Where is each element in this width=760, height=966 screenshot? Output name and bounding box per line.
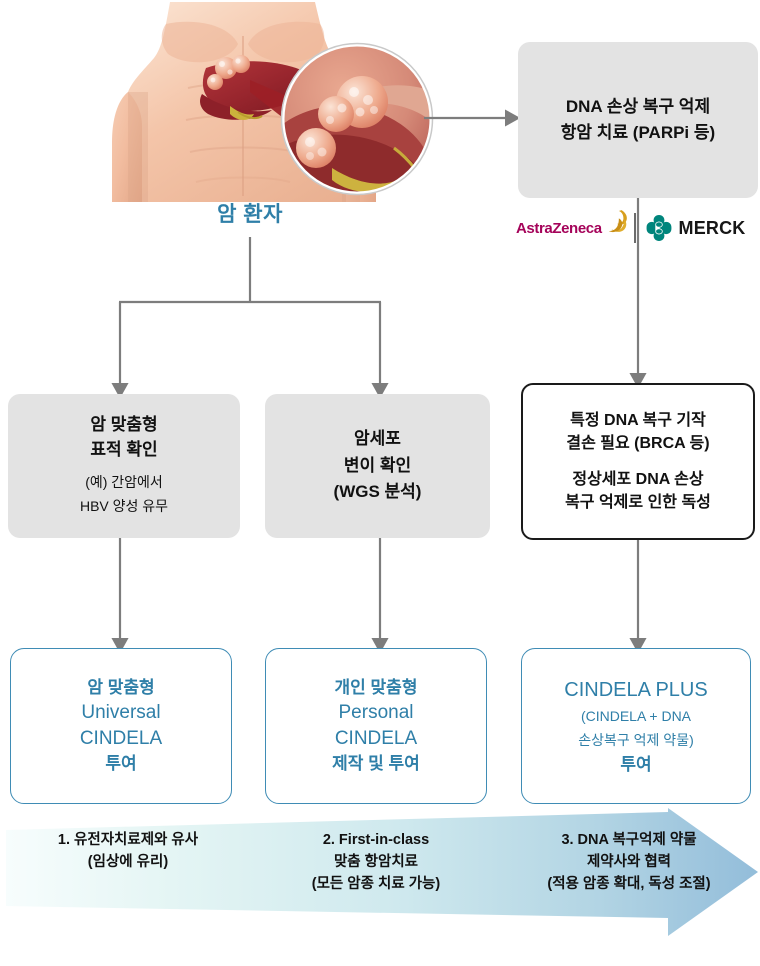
dna-repair-inhibitor-box: DNA 손상 복구 억제 항암 치료 (PARPi 등) [518,42,758,198]
liver-cancer-torso-illustration [110,0,450,206]
caption-pharma-partnership: 3. DNA 복구억제 약물 제약사와 협력 (적용 암종 확대, 독성 조절) [500,830,758,895]
astrazeneca-wordmark: AstraZeneca [516,220,602,237]
mutation-box-line-1: 암세포 [334,426,422,452]
plus-line-2: (CINDELA + DNA [564,705,707,729]
caption-1-line-2: (임상에 유리) [8,852,248,874]
caption-2-line-3: (모든 암종 치료 가능) [252,874,500,896]
universal-line-1: 암 맞춤형 [80,676,162,701]
caption-gene-therapy-similarity: 1. 유전자치료제와 유사 (임상에 유리) [8,830,248,874]
universal-cindela-box: 암 맞춤형 Universal CINDELA 투여 [10,648,232,804]
caption-3-line-3: (적용 암종 확대, 독성 조절) [500,874,758,896]
brca-box-line-4: 복구 억제로 인한 독성 [565,491,711,514]
target-box-line-3: (예) 간암에서 [80,470,168,495]
caption-1-line-1: 1. 유전자치료제와 유사 [8,830,248,852]
page-title: 암 환자 [0,198,500,228]
brca-deficiency-toxicity-box: 특정 DNA 복구 기작 결손 필요 (BRCA 등) 정상세포 DNA 손상 … [521,383,755,540]
plus-line-1: CINDELA PLUS [564,675,707,705]
cancer-specific-target-box: 암 맞춤형 표적 확인 (예) 간암에서 HBV 양성 유무 [8,394,240,538]
logo-divider [634,213,636,243]
brca-box-line-3: 정상세포 DNA 손상 [565,468,711,491]
caption-3-line-2: 제약사와 협력 [500,852,758,874]
caption-3-line-1: 3. DNA 복구억제 약물 [500,830,758,852]
target-box-line-2: 표적 확인 [80,438,168,463]
merck-clover-icon [646,215,672,241]
merck-logo: MERCK [646,215,746,241]
caption-first-in-class: 2. First-in-class 맞춤 항암치료 (모든 암종 치료 가능) [252,830,500,895]
target-box-line-4: HBV 양성 유무 [80,494,168,519]
target-box-line-1: 암 맞춤형 [80,413,168,438]
astrazeneca-swoosh-icon [606,210,628,234]
personal-line-1: 개인 맞춤형 [332,676,420,701]
mutation-box-line-2: 변이 확인 [334,453,422,479]
plus-line-3: 손상복구 억제 약물) [564,729,707,753]
brca-box-line-2: 결손 필요 (BRCA 등) [565,432,711,455]
diagram-canvas: 암 환자 DNA 손상 복구 억제 항암 치료 (PARPi 등) AstraZ… [0,0,760,966]
personal-line-3: CINDELA [332,726,420,752]
universal-line-3: CINDELA [80,726,162,752]
caption-2-line-2: 맞춤 항암치료 [252,852,500,874]
personal-cindela-box: 개인 맞춤형 Personal CINDELA 제작 및 투여 [265,648,487,804]
dna-repair-line-2: 항암 치료 (PARPi 등) [561,120,715,146]
brca-box-line-1: 특정 DNA 복구 기작 [565,409,711,432]
tumor-closeup-inset [281,43,434,196]
merck-wordmark: MERCK [679,218,746,239]
astrazeneca-logo: AstraZeneca [512,212,630,244]
dna-repair-line-1: DNA 손상 복구 억제 [561,94,715,120]
partner-logos: AstraZeneca MERCK [512,211,756,245]
personal-line-4: 제작 및 투여 [332,752,420,777]
brca-box-spacer [565,455,711,468]
caption-2-line-1: 2. First-in-class [252,830,500,852]
mutation-box-line-3: (WGS 분석) [334,479,422,505]
personal-line-2: Personal [332,700,420,726]
cancer-cell-mutation-box: 암세포 변이 확인 (WGS 분석) [265,394,490,538]
plus-line-4: 투여 [564,753,707,777]
universal-line-4: 투여 [80,752,162,777]
cindela-plus-box: CINDELA PLUS (CINDELA + DNA 손상복구 억제 약물) … [521,648,751,804]
universal-line-2: Universal [80,700,162,726]
